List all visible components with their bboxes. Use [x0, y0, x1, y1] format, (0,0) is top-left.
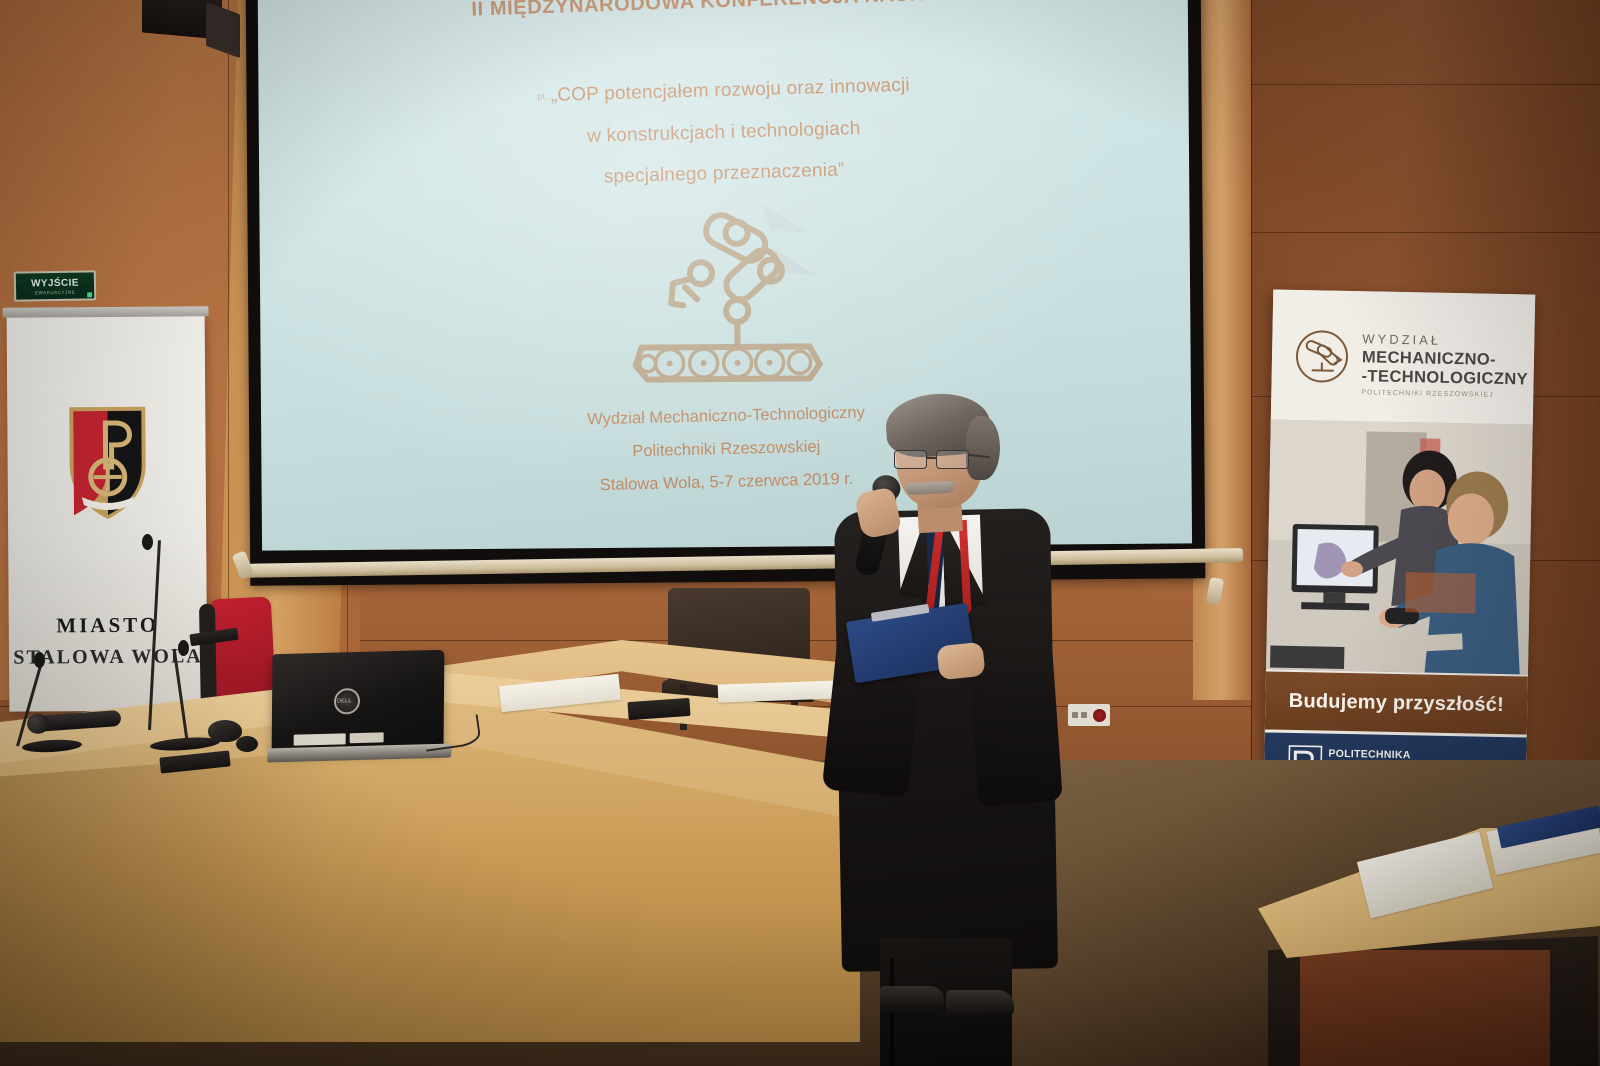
banner-subheading: POLITECHNIKI RZESZOWSKIEJ	[1361, 389, 1494, 399]
tracked-robot-arm-icon	[612, 186, 844, 388]
hand-holding-folder	[936, 642, 985, 681]
slide-subtitle-block: pt.„COP potencjałem rozwoju oraz innowac…	[258, 66, 1189, 197]
front-right-table	[1258, 828, 1600, 1066]
exit-sign-sub-text: EWAKUACYJNE	[35, 289, 75, 295]
exit-sign-main-text: WYJŚCIE	[31, 277, 79, 289]
gooseneck-microphone-capsule	[34, 652, 45, 668]
glasses-bridge	[927, 457, 937, 459]
banner-heading-main: MECHANICZNO- -TECHNOLOGICZNY	[1361, 348, 1528, 388]
banner-slogan-text: Budujemy przyszłość!	[1289, 689, 1505, 716]
exit-sign-led	[87, 292, 92, 297]
hair-side	[966, 416, 1000, 480]
socket-hole	[1081, 712, 1087, 718]
banner-heading-line-2: -TECHNOLOGICZNY	[1361, 367, 1528, 389]
shoe-right	[946, 990, 1014, 1016]
wall-power-socket[interactable]	[1068, 704, 1110, 726]
moustache	[906, 481, 955, 495]
laptop-sticker	[350, 732, 384, 743]
glasses-lens	[894, 450, 927, 469]
computer-mouse-secondary[interactable]	[236, 736, 258, 752]
banner-top-rail	[3, 306, 209, 317]
banner-photo-students-cad	[1266, 420, 1533, 675]
slide-pt-mark: pt.	[537, 91, 548, 101]
speaker-person	[826, 398, 1066, 1066]
glasses-lens	[936, 450, 969, 469]
right-arm	[965, 601, 1063, 806]
laptop-sticker	[294, 733, 346, 745]
slide-title: II MIĘDZYNARODOWA KONFERENCJA NAUKOWA	[258, 0, 1188, 29]
dell-laptop[interactable]	[272, 650, 445, 753]
gooseneck-microphone-capsule	[178, 640, 189, 656]
banner-slogan-band: Budujemy przyszłość!	[1265, 671, 1528, 734]
eyeglasses-icon	[892, 450, 984, 470]
socket-indicator	[1093, 709, 1106, 722]
wall-seam	[228, 0, 229, 700]
dell-logo-icon	[334, 688, 360, 715]
wmt-robot-arm-logo-icon	[1293, 328, 1350, 385]
banner-photo-illustration	[1266, 420, 1533, 675]
shoe-left	[880, 986, 944, 1012]
gooseneck-microphone-capsule	[142, 534, 153, 550]
lecture-hall-scene: WYJŚCIE EWAKUACYJNE II MIĘDZYNARODOWA KO…	[0, 0, 1600, 1066]
slide-subtitle-text-1: „COP potencjałem rozwoju oraz innowacji	[551, 75, 911, 106]
banner-header-area: WYDZIAŁ MECHANICZNO- -TECHNOLOGICZNY POL…	[1271, 290, 1535, 425]
banner-heading-line-1: MECHANICZNO-	[1362, 348, 1529, 370]
table-modesty-panel	[1300, 950, 1550, 1066]
trouser-seam	[890, 958, 894, 1066]
left-banner-line-1: MIASTO	[9, 612, 207, 638]
socket-hole	[1072, 712, 1078, 718]
banner-heading-small: WYDZIAŁ	[1362, 331, 1441, 348]
emergency-exit-sign: WYJŚCIE EWAKUACYJNE	[14, 270, 97, 301]
stalowa-wola-coat-of-arms-icon	[65, 401, 150, 524]
